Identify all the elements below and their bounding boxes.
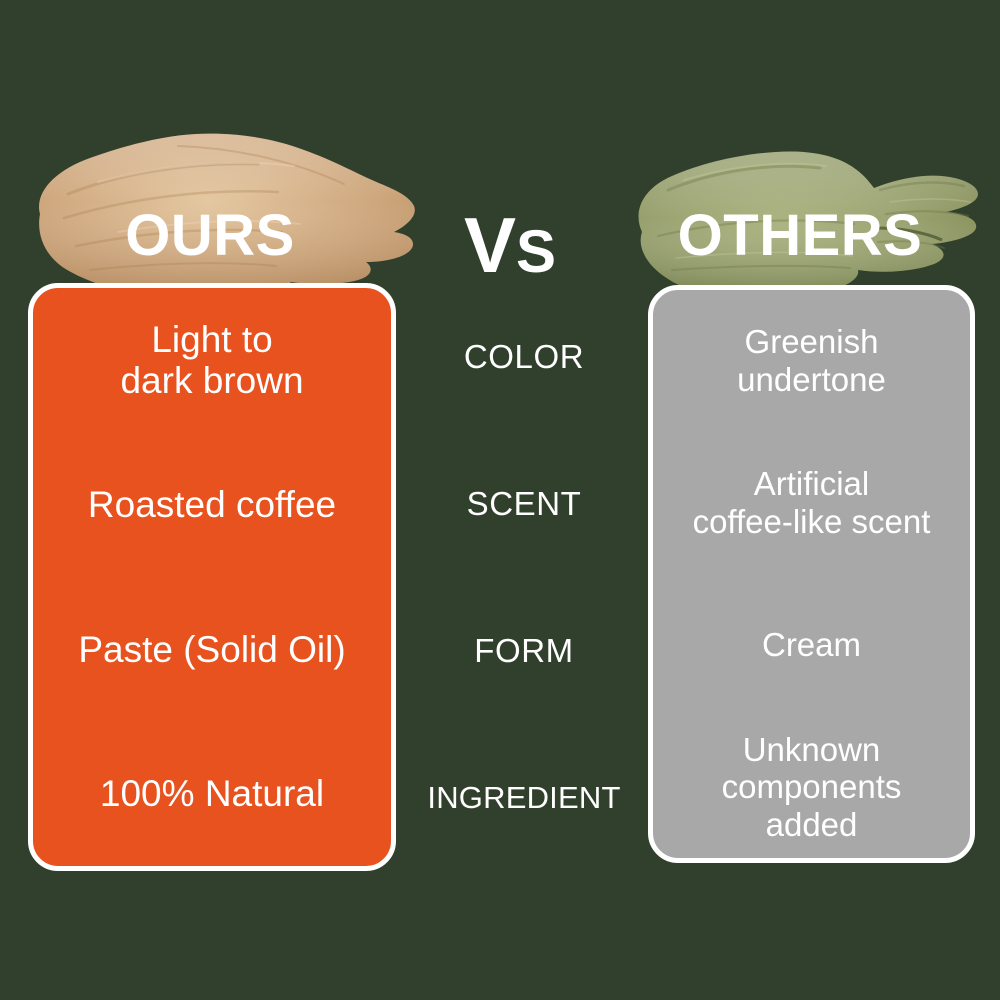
attribute-label-column: COLOR SCENT FORM INGREDIENT xyxy=(400,283,648,871)
vs-letter-v: V xyxy=(464,201,516,289)
attribute-row-scent: SCENT xyxy=(400,430,648,577)
others-card: Greenishundertone Artificialcoffee-like … xyxy=(648,285,975,863)
attribute-row-ingredient: INGREDIENT xyxy=(400,724,648,871)
ours-row-ingredient: 100% Natural xyxy=(33,722,391,867)
attribute-label-color: COLOR xyxy=(464,338,584,376)
others-row-form: Cream xyxy=(653,574,970,716)
vs-letter-s: S xyxy=(516,218,556,285)
versus-badge: VS xyxy=(400,206,620,284)
ours-title: OURS xyxy=(0,202,420,269)
attribute-label-scent: SCENT xyxy=(467,485,582,523)
ours-row-form: Paste (Solid Oil) xyxy=(33,577,391,722)
ours-row-color: Light todark brown xyxy=(33,288,391,433)
attribute-row-color: COLOR xyxy=(400,283,648,430)
comparison-infographic: OURS VS xyxy=(0,0,1000,1000)
attribute-label-form: FORM xyxy=(474,632,574,670)
others-title: OTHERS xyxy=(600,202,1000,269)
attribute-row-form: FORM xyxy=(400,577,648,724)
others-row-ingredient: Unknowncomponentsadded xyxy=(653,716,970,858)
others-row-scent: Artificialcoffee-like scent xyxy=(653,432,970,574)
others-row-color: Greenishundertone xyxy=(653,290,970,432)
ours-card: Light todark brown Roasted coffee Paste … xyxy=(28,283,396,871)
ours-row-scent: Roasted coffee xyxy=(33,433,391,578)
attribute-label-ingredient: INGREDIENT xyxy=(427,780,620,816)
